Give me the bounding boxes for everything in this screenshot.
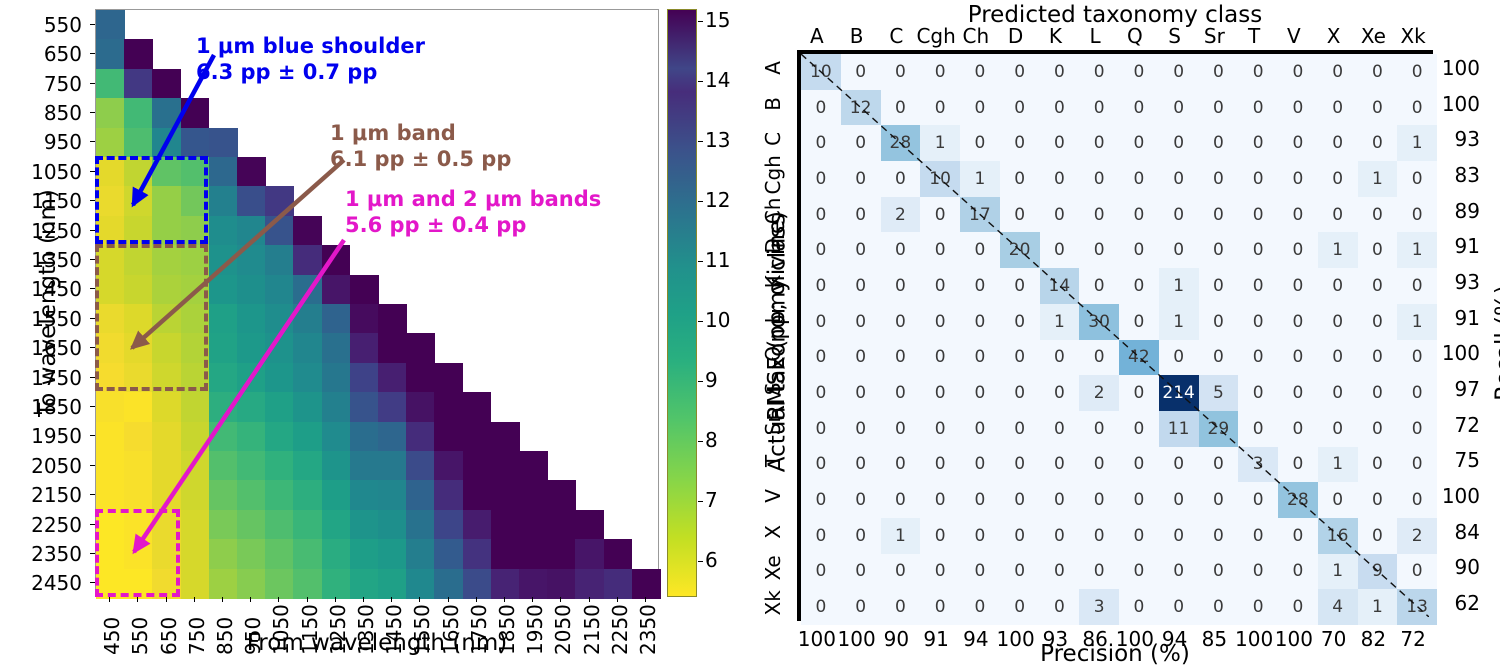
confusion-matrix-column-header: Sr [1195,24,1235,48]
heatmap-cell [491,539,520,569]
annotation-label-line1: 1 μm blue shoulder [196,33,425,59]
heatmap-cell [293,539,322,569]
heatmap-cell [406,510,435,540]
heatmap-cell [152,69,181,99]
colorbar [667,9,697,597]
heatmap-cell [209,480,238,510]
heatmap-cell [96,98,125,128]
heatmap-cell [322,510,351,540]
annotation-label-blue: 1 μm blue shoulder6.3 pp ± 0.7 pp [196,33,425,86]
heatmap-cell [124,69,153,99]
confusion-matrix-recall-value: 100 [1436,341,1480,365]
colorbar-tick-label: 11 [705,250,730,270]
heatmap-cell [209,157,238,187]
heatmap-cell [378,451,407,481]
heatmap-cell [96,10,125,40]
heatmap-x-tick-mark [222,597,223,602]
heatmap-cell [293,451,322,481]
heatmap-cell [209,569,238,599]
heatmap-cell [378,422,407,452]
colorbar-tick-mark [698,561,703,562]
confusion-matrix-recall-value: 100 [1436,484,1480,508]
heatmap-x-tick-mark [560,597,561,602]
heatmap-cell [434,451,463,481]
heatmap-x-tick-mark [645,597,646,602]
heatmap-cell [491,569,520,599]
heatmap-cell [237,333,266,363]
heatmap-cell [604,569,633,599]
heatmap-cell [491,451,520,481]
heatmap-cell [293,422,322,452]
heatmap-cell [152,451,181,481]
confusion-matrix-column-header: Q [1115,24,1155,48]
heatmap-cell [237,422,266,452]
colorbar-tick-mark [698,81,703,82]
heatmap-cell [265,539,294,569]
heatmap-cell [519,451,548,481]
heatmap-cell [209,363,238,393]
colorbar-tick-mark [698,381,703,382]
heatmap-cell [434,569,463,599]
heatmap-cell [237,157,266,187]
heatmap-cell [350,363,379,393]
heatmap-cell [434,392,463,422]
heatmap-cell [124,422,153,452]
heatmap-cell [293,216,322,246]
heatmap-cell [406,422,435,452]
heatmap-cell [124,39,153,69]
figure-root: 5506507508509501050115012501350145015501… [0,0,1500,667]
confusion-matrix-recall-value: 62 [1436,591,1480,615]
heatmap-cell [293,275,322,305]
confusion-matrix-column-header: K [1036,24,1076,48]
heatmap-cell [350,422,379,452]
heatmap-x-axis-label: From wavelength (nm) [95,630,659,656]
heatmap-cell [463,422,492,452]
heatmap-cell [96,39,125,69]
heatmap-x-tick-mark [109,597,110,602]
confusion-matrix-recall-value: 90 [1436,555,1480,579]
heatmap-cell [350,304,379,334]
confusion-matrix-column-header: X [1314,24,1354,48]
heatmap-cell [152,128,181,158]
heatmap-cell [181,451,210,481]
heatmap-cell [322,451,351,481]
confusion-matrix-column-header: Xk [1393,24,1433,48]
confusion-matrix-column-header: Cgh [916,24,956,48]
heatmap-cell [575,569,604,599]
heatmap-cell [434,539,463,569]
heatmap-x-tick-mark [307,597,308,602]
heatmap-cell [378,333,407,363]
heatmap-cell [181,510,210,540]
heatmap-x-tick-mark [137,597,138,602]
heatmap-cell [265,333,294,363]
heatmap-cell [293,392,322,422]
heatmap-cell [463,510,492,540]
annotation-label-line1: 1 μm and 2 μm bands [345,186,601,212]
confusion-matrix-column-header: D [996,24,1036,48]
heatmap-cell [96,69,125,99]
confusion-matrix-recall-value: 100 [1436,56,1480,80]
heatmap-cell [491,510,520,540]
heatmap-panel: 5506507508509501050115012501350145015501… [0,0,760,667]
heatmap-cell [463,569,492,599]
confusion-matrix-recall-value: 72 [1436,413,1480,437]
heatmap-cell [350,275,379,305]
heatmap-cell [209,539,238,569]
confusion-matrix-y-axis-label: Actual taxonomy class [765,58,791,629]
heatmap-cell [265,480,294,510]
heatmap-cell [152,392,181,422]
confusion-matrix-column-header: S [1155,24,1195,48]
heatmap-cell [209,333,238,363]
colorbar-tick-label: 10 [705,310,730,330]
heatmap-cell [96,480,125,510]
colorbar-tick-mark [698,441,703,442]
heatmap-cell [124,98,153,128]
heatmap-cell [406,392,435,422]
heatmap-cell [434,480,463,510]
heatmap-y-tick-mark [90,83,95,84]
heatmap-cell [406,480,435,510]
heatmap-cell [237,186,266,216]
heatmap-cell [322,304,351,334]
heatmap-cell [293,569,322,599]
confusion-matrix-column-header: Xe [1354,24,1394,48]
heatmap-cell [293,363,322,393]
heatmap-cell [519,510,548,540]
heatmap-cell [604,539,633,569]
heatmap-x-tick-mark [391,597,392,602]
heatmap-cell [237,451,266,481]
heatmap-cell [209,245,238,275]
heatmap-cell [293,480,322,510]
confusion-matrix-recall-value: 91 [1436,306,1480,330]
heatmap-cell [322,480,351,510]
heatmap-x-tick-mark [194,597,195,602]
heatmap-cell [265,245,294,275]
heatmap-cell [350,333,379,363]
colorbar-tick-label: 13 [705,130,730,150]
heatmap-cell [378,569,407,599]
confusion-matrix-column-header: Ch [956,24,996,48]
heatmap-cell [237,216,266,246]
heatmap-cell [519,480,548,510]
heatmap-cell [322,245,351,275]
heatmap-cell [322,422,351,452]
heatmap-cell [547,569,576,599]
colorbar-tick-label: 8 [705,430,718,450]
confusion-matrix-recall-value: 93 [1436,270,1480,294]
heatmap-y-tick-mark [90,24,95,25]
heatmap-cell [293,304,322,334]
heatmap-cell [350,510,379,540]
heatmap-cell [124,392,153,422]
heatmap-cell [463,539,492,569]
heatmap-cell [152,422,181,452]
heatmap-cell [209,422,238,452]
heatmap-cell [322,392,351,422]
colorbar-tick-mark [698,501,703,502]
confusion-matrix-recall-value: 83 [1436,163,1480,187]
heatmap-cell [322,363,351,393]
colorbar-tick-label: 14 [705,70,730,90]
heatmap-cell [322,539,351,569]
heatmap-cell [96,392,125,422]
heatmap-cell [237,569,266,599]
heatmap-cell [547,480,576,510]
heatmap-cell [406,363,435,393]
heatmap-cell [463,451,492,481]
annotation-label-magenta: 1 μm and 2 μm bands5.6 pp ± 0.4 pp [345,186,601,239]
heatmap-x-tick-mark [617,597,618,602]
heatmap-cell [124,451,153,481]
confusion-matrix-x-axis-label: Precision (%) [797,641,1433,667]
colorbar-tick-mark [698,21,703,22]
colorbar-tick-mark [698,261,703,262]
heatmap-highlight-box [95,244,208,391]
heatmap-highlight-box [95,156,208,244]
heatmap-cell [434,363,463,393]
heatmap-y-tick-mark [90,141,95,142]
heatmap-y-tick-mark [90,112,95,113]
confusion-matrix-recall-axis-label: Recall (%) [1492,58,1500,629]
heatmap-cell [575,539,604,569]
heatmap-cell [547,510,576,540]
heatmap-cell [265,216,294,246]
colorbar-tick-label: 12 [705,190,730,210]
heatmap-cell [293,333,322,363]
heatmap-cell [209,510,238,540]
heatmap-cell [350,480,379,510]
heatmap-cell [209,128,238,158]
heatmap-cell [181,392,210,422]
heatmap-cell [265,569,294,599]
heatmap-cell [378,363,407,393]
heatmap-cell [378,392,407,422]
annotation-label-line2: 6.1 pp ± 0.5 pp [330,146,511,172]
heatmap-cell [350,569,379,599]
heatmap-cell [152,98,181,128]
annotation-label-line2: 5.6 pp ± 0.4 pp [345,212,601,238]
heatmap-cell [124,480,153,510]
confusion-matrix-box: 1000000000000000001200000000000000002810… [797,50,1433,621]
heatmap-cell [237,304,266,334]
heatmap-x-tick-mark [504,597,505,602]
confusion-matrix-diagonal [801,54,1429,617]
heatmap-cell [322,333,351,363]
heatmap-x-tick-mark [363,597,364,602]
heatmap-x-tick-mark [448,597,449,602]
confusion-matrix-recall-value: 93 [1436,127,1480,151]
confusion-matrix-column-header: C [877,24,917,48]
heatmap-cell [209,186,238,216]
colorbar-tick-label: 7 [705,490,718,510]
heatmap-y-tick-mark [90,494,95,495]
heatmap-cell [632,569,661,599]
heatmap-y-tick-mark [90,406,95,407]
heatmap-x-tick-mark [476,597,477,602]
heatmap-cell [209,275,238,305]
heatmap-cell [181,539,210,569]
heatmap-cell [237,363,266,393]
heatmap-cell [491,422,520,452]
heatmap-cell [209,216,238,246]
heatmap-cell [237,275,266,305]
heatmap-cell [96,451,125,481]
heatmap-cell [491,480,520,510]
heatmap-cell [547,539,576,569]
heatmap-highlight-box [95,509,180,597]
heatmap-cell [463,392,492,422]
heatmap-cell [237,245,266,275]
heatmap-cell [322,275,351,305]
confusion-matrix-column-header: V [1274,24,1314,48]
heatmap-cell [96,422,125,452]
confusion-matrix-panel: Predicted taxonomy class 100000000000000… [760,0,1500,667]
confusion-matrix-recall-value: 97 [1436,377,1480,401]
heatmap-cell [181,480,210,510]
heatmap-x-tick-mark [278,597,279,602]
heatmap-cell [519,539,548,569]
heatmap-cell [378,304,407,334]
confusion-matrix-column-header: T [1234,24,1274,48]
colorbar-tick-mark [698,321,703,322]
confusion-matrix-recall-value: 75 [1436,448,1480,472]
colorbar-tick-mark [698,141,703,142]
confusion-matrix-recall-value: 89 [1436,199,1480,223]
confusion-matrix-recall-value: 100 [1436,92,1480,116]
heatmap-cell [181,98,210,128]
heatmap-cell [209,451,238,481]
heatmap-cell [181,422,210,452]
confusion-matrix-recall-value: 91 [1436,234,1480,258]
heatmap-cell [434,510,463,540]
heatmap-cell [265,304,294,334]
heatmap-cell [152,480,181,510]
heatmap-cell [181,128,210,158]
colorbar-tick-label: 9 [705,370,718,390]
heatmap-cell [265,422,294,452]
heatmap-cell [124,128,153,158]
confusion-matrix-column-header: B [837,24,877,48]
heatmap-cell [519,569,548,599]
heatmap-y-tick-mark [90,465,95,466]
heatmap-cell [322,569,351,599]
heatmap-y-tick-mark [90,435,95,436]
heatmap-cell [209,392,238,422]
heatmap-cell [237,392,266,422]
heatmap-x-tick-mark [166,597,167,602]
heatmap-x-tick-mark [589,597,590,602]
heatmap-cell [265,510,294,540]
heatmap-cell [463,480,492,510]
heatmap-cell [265,275,294,305]
heatmap-cell [406,569,435,599]
heatmap-cell [265,451,294,481]
heatmap-cell [575,510,604,540]
heatmap-x-tick-mark [419,597,420,602]
heatmap-cell [378,510,407,540]
heatmap-cell [350,539,379,569]
confusion-matrix-column-header: L [1075,24,1115,48]
heatmap-cell [181,569,210,599]
heatmap-cell [237,539,266,569]
heatmap-cell [96,128,125,158]
heatmap-cell [406,539,435,569]
heatmap-cell [237,480,266,510]
heatmap-x-tick-mark [532,597,533,602]
annotation-label-line1: 1 μm band [330,120,511,146]
heatmap-cell [350,451,379,481]
heatmap-cell [406,333,435,363]
heatmap-cell [265,363,294,393]
colorbar-tick-label: 6 [705,550,718,570]
heatmap-cell [378,480,407,510]
confusion-matrix-column-header: A [797,24,837,48]
heatmap-cell [434,422,463,452]
heatmap-y-tick-mark [90,53,95,54]
heatmap-cell [350,392,379,422]
annotation-label-line2: 6.3 pp ± 0.7 pp [196,59,425,85]
heatmap-cell [406,451,435,481]
heatmap-cell [378,539,407,569]
heatmap-cell [265,186,294,216]
heatmap-cell [209,304,238,334]
colorbar-tick-mark [698,201,703,202]
heatmap-cell [293,510,322,540]
annotation-label-brown: 1 μm band6.1 pp ± 0.5 pp [330,120,511,173]
colorbar-tick-label: 15 [705,10,730,30]
heatmap-x-tick-mark [335,597,336,602]
confusion-matrix-recall-value: 84 [1436,520,1480,544]
heatmap-x-tick-mark [250,597,251,602]
heatmap-cell [293,245,322,275]
heatmap-y-axis-label: To wavelength (nm) [35,9,61,597]
heatmap-cell [237,510,266,540]
heatmap-cell [265,392,294,422]
